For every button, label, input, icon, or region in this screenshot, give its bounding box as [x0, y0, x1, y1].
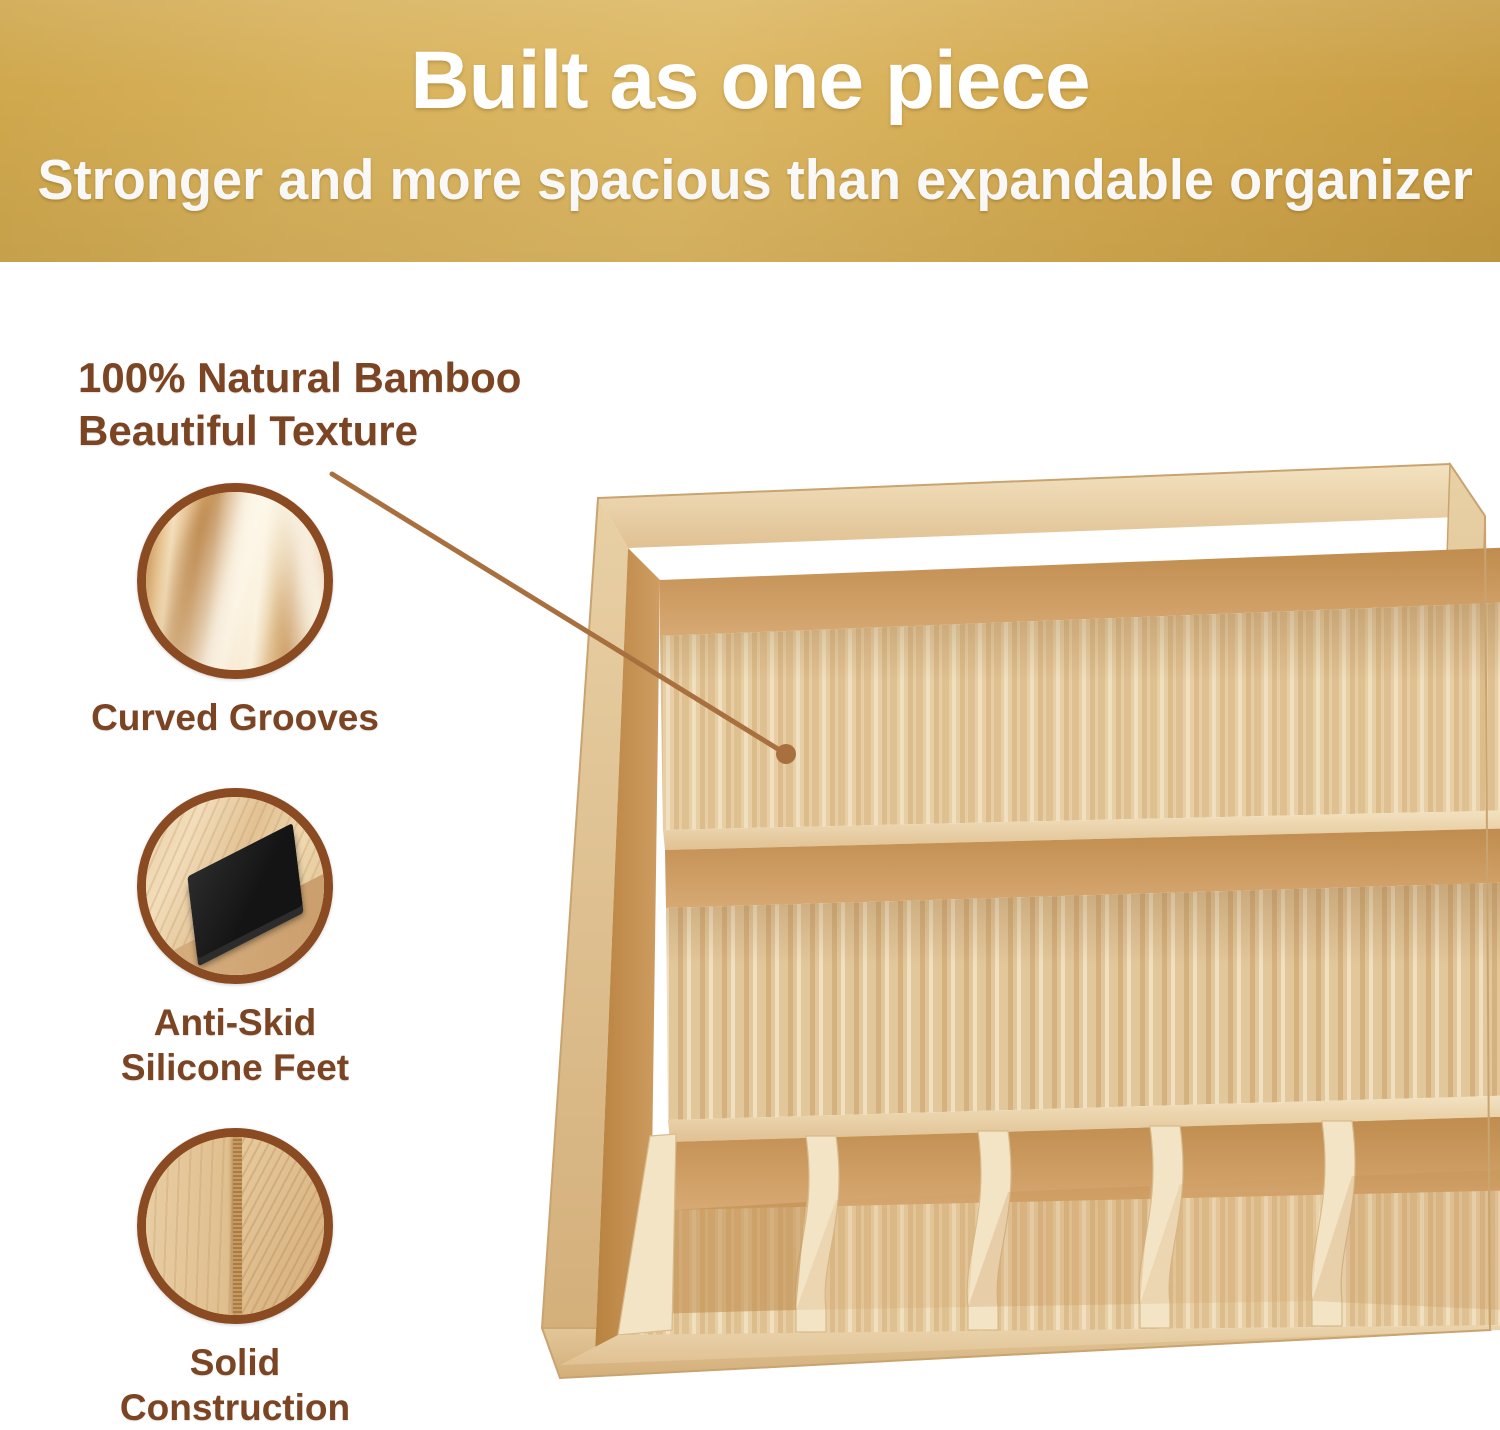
feature-label-line-2: Silicone Feet — [60, 1045, 410, 1090]
joint-face-left — [146, 1137, 235, 1315]
feature-anti-skid-feet: Anti-Skid Silicone Feet — [60, 788, 410, 1090]
feature-label-line-1: Curved Grooves — [60, 695, 410, 740]
header-banner: Built as one piece Stronger and more spa… — [0, 0, 1500, 262]
product-image — [500, 430, 1500, 1380]
feature-label: Curved Grooves — [60, 695, 410, 740]
banner-subtitle: Stronger and more spacious than expandab… — [38, 152, 1463, 209]
joint-face-right — [235, 1137, 324, 1315]
banner-title: Built as one piece — [0, 40, 1500, 122]
tray-top-rim — [598, 464, 1485, 548]
bamboo-cutlery-drawer-organizer — [500, 430, 1500, 1380]
feature-label: Solid Construction — [60, 1340, 410, 1430]
compartment-middle-left — [665, 828, 1500, 1120]
compartment-top-left — [660, 547, 1500, 830]
feature-label: Anti-Skid Silicone Feet — [60, 1000, 410, 1090]
black-silicone-foot-icon — [137, 788, 333, 984]
curved-groove-bamboo-icon — [137, 483, 333, 679]
bamboo-corner-joint-icon — [137, 1128, 333, 1324]
feature-solid-construction: Solid Construction — [60, 1128, 410, 1430]
feature-label-line-1: Anti-Skid — [60, 1000, 410, 1045]
headline-line-1: 100% Natural Bamboo — [78, 352, 638, 405]
feature-label-line-2: Construction — [60, 1385, 410, 1430]
feature-curved-grooves: Curved Grooves — [60, 483, 410, 740]
utensil-slot-row — [618, 1116, 1500, 1335]
joint-seam — [233, 1137, 242, 1315]
feature-label-line-1: Solid — [60, 1340, 410, 1385]
